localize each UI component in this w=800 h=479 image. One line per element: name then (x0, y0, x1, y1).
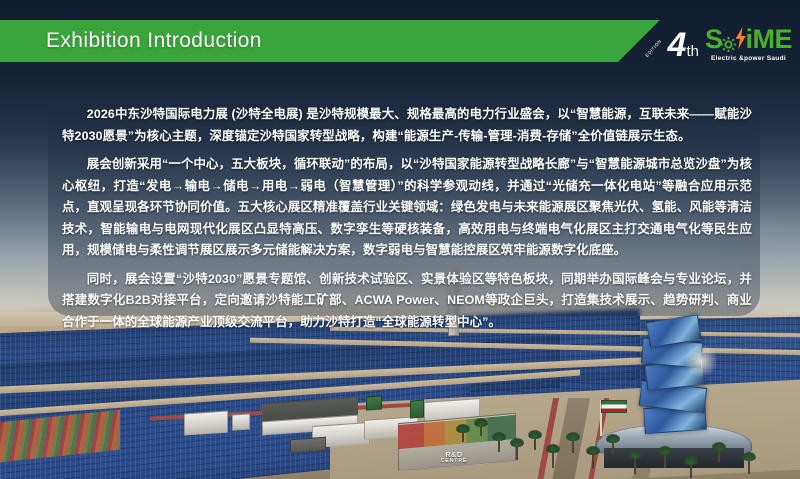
rd-centre-label-sub: CENTRE (424, 459, 484, 464)
plant-building (232, 413, 250, 430)
brand-tagline: Electric &power Saudi (711, 56, 786, 63)
event-logo: EDITION 4 th S (668, 10, 792, 62)
rd-centre-label: R&D CENTRE (424, 452, 484, 465)
palm-tree (534, 436, 536, 450)
intro-paragraph-3: 同时，展会设置“沙特2030”愿景专题馆、创新技术试验区、实景体验区等特色板块，… (62, 269, 752, 334)
plant-equipment (410, 400, 424, 419)
content-body: 2026中东沙特国际电力展 (沙特全电展) 是沙特规模最大、规格最高的电力行业盛… (62, 104, 752, 333)
slide-root: R&D CENTRE (0, 0, 800, 479)
plant-equipment (366, 395, 382, 410)
palm-tree (516, 444, 518, 460)
palm-tree (572, 438, 574, 453)
palm-tree (690, 462, 692, 478)
plant-building (184, 410, 228, 435)
palm-tree (480, 424, 482, 436)
palm-tree (498, 438, 500, 452)
national-flag (601, 400, 627, 413)
intro-paragraph-1: 2026中东沙特国际电力展 (沙特全电展) 是沙特规模最大、规格最高的电力行业盛… (62, 104, 752, 147)
hero-tower-podium (604, 448, 744, 468)
brand-letters-me: ME (753, 26, 793, 52)
palm-tree (552, 450, 554, 468)
brand-letter-i: i (745, 26, 752, 52)
palm-tree (462, 430, 464, 442)
palm-tree (748, 458, 750, 474)
edition-badge: EDITION 4 th (668, 30, 699, 62)
edition-suffix: th (686, 44, 699, 60)
edition-number: 4 (668, 30, 686, 60)
sun-glint (684, 344, 718, 378)
palm-tree (718, 448, 720, 462)
brand-wordmark: S i ME (705, 25, 792, 54)
hero-tower (630, 318, 716, 468)
palm-tree (634, 456, 636, 474)
palm-tree (664, 452, 666, 468)
palm-tree (612, 440, 614, 454)
page-title: Exhibition Introduction (46, 26, 262, 56)
intro-paragraph-2: 展会创新采用“一个中心，五大板块，循环联动”的布局，以“沙特国家能源转型战略长廊… (62, 154, 752, 262)
gear-icon (720, 31, 737, 48)
plant-building (290, 437, 326, 454)
palm-tree (592, 452, 594, 469)
brand-mark: S i ME Electric &power (705, 25, 792, 63)
